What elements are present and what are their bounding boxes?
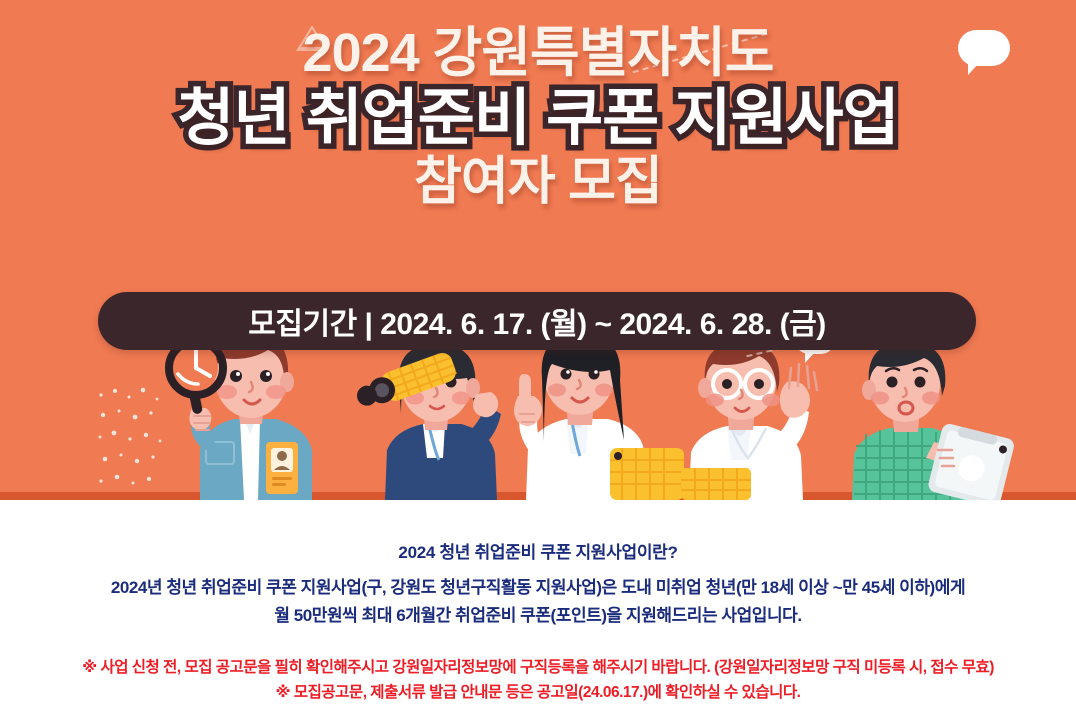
poster-title: 2024 강원특별자치도 청년 취업준비 쿠폰 지원사업 참여자 모집 [0, 0, 1076, 208]
notice-line-1: ※ 사업 신청 전, 모집 공고문을 필히 확인해주시고 강원일자리정보망에 구… [0, 656, 1076, 681]
halftone-dots-left [95, 385, 165, 500]
description-line-1: 2024년 청년 취업준비 쿠폰 지원사업(구, 강원도 청년구직활동 지원사업… [0, 574, 1076, 602]
poster-page: 2024 강원특별자치도 청년 취업준비 쿠폰 지원사업 참여자 모집 [0, 0, 1076, 724]
poster-hero: 2024 강원특별자치도 청년 취업준비 쿠폰 지원사업 참여자 모집 [0, 0, 1076, 500]
notice-line-2: ※ 모집공고문, 제출서류 발급 안내문 등은 공고일(24.06.17.)에 … [0, 681, 1076, 706]
youth-illustration [0, 330, 1076, 500]
figure-tablet-person [830, 338, 1030, 500]
figure-waving-person [655, 338, 845, 500]
description-line-2: 월 50만원씩 최대 6개월간 취업준비 쿠폰(포인트)을 지원해드리는 사업입… [0, 602, 1076, 630]
title-line-2: 청년 취업준비 쿠폰 지원사업 [0, 88, 1076, 150]
description-section: 2024 청년 취업준비 쿠폰 지원사업이란? 2024년 청년 취업준비 쿠폰… [0, 500, 1076, 724]
title-line-3: 참여자 모집 [0, 156, 1076, 208]
recruitment-period-banner: 모집기간 | 2024. 6. 17. (월) ~ 2024. 6. 28. (… [98, 292, 976, 350]
title-line-1: 2024 강원특별자치도 [0, 26, 1076, 80]
figure-magnifier-person [148, 330, 338, 500]
description-heading: 2024 청년 취업준비 쿠폰 지원사업이란? [0, 538, 1076, 563]
recruitment-period-text: 모집기간 | 2024. 6. 17. (월) ~ 2024. 6. 28. (… [248, 299, 825, 343]
